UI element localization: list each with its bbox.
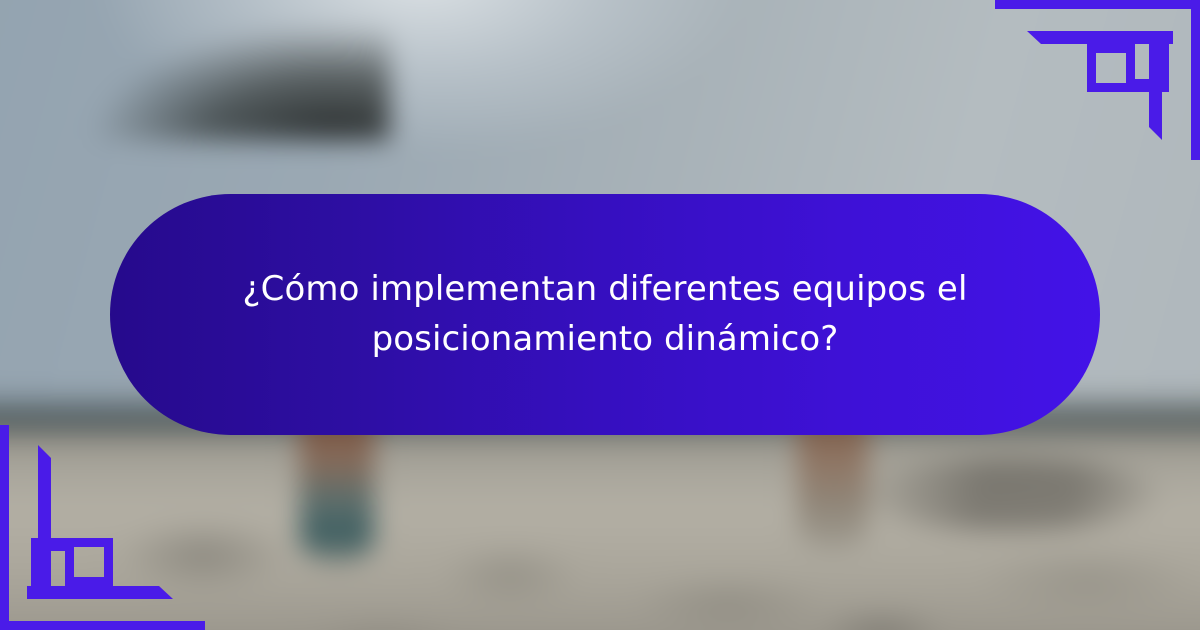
quote-text: ¿Cómo implementan diferentes equipos el …: [225, 265, 985, 364]
quote-box: ¿Cómo implementan diferentes equipos el …: [110, 194, 1100, 435]
social-quote-card: ¿Cómo implementan diferentes equipos el …: [0, 0, 1200, 630]
photo-foreground-streak: [860, 460, 1160, 530]
corner-ornament-top-right: [995, 0, 1200, 160]
corner-ornament-bottom-left: [0, 425, 205, 630]
photo-dark-corner: [0, 0, 390, 140]
